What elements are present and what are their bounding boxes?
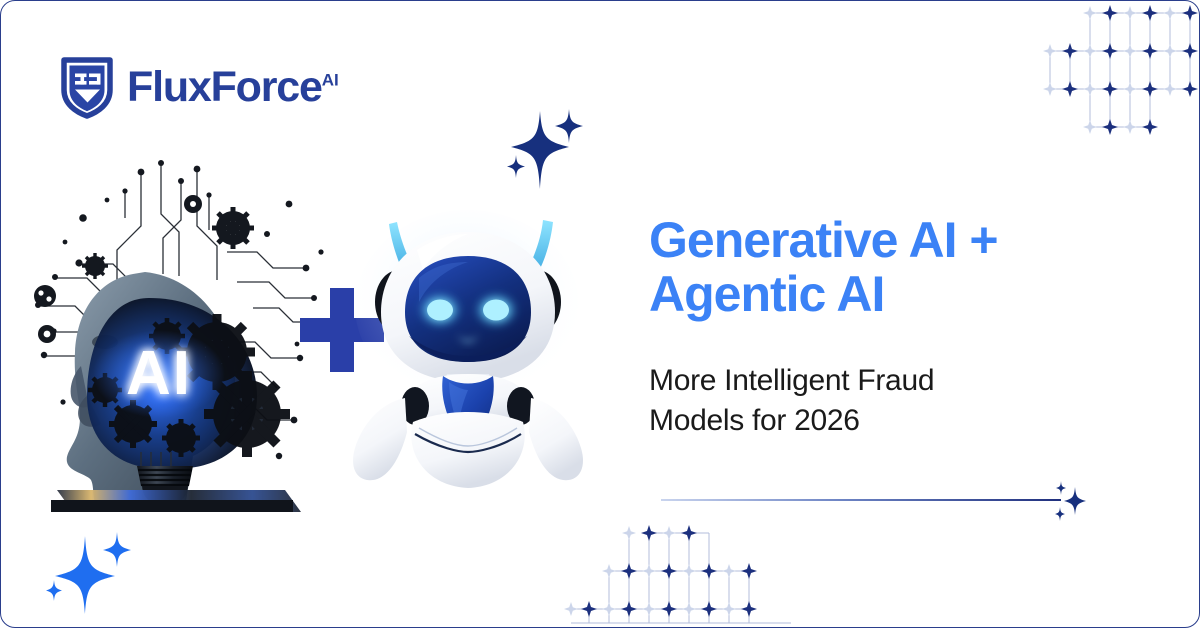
brand-logo[interactable]: FluxForceAI	[61, 56, 339, 118]
ai-head-lightbulb-illustration: AI	[21, 156, 336, 511]
shield-logo-icon	[61, 56, 113, 118]
subheadline-line-2: Models for 2026	[649, 401, 1069, 441]
sparkle-cluster-bottomleft	[43, 522, 168, 617]
subheadline: More Intelligent Fraud Models for 2026	[649, 361, 1069, 441]
star-grid-topright	[1035, 0, 1200, 166]
star-grid-bottom	[566, 511, 796, 628]
divider-sparkle-cluster	[1041, 479, 1097, 523]
logo-wordmark-text: FluxForce	[127, 63, 322, 111]
headline-line-2: Agentic AI	[649, 267, 1079, 321]
ai-bulb-label: AI	[126, 339, 192, 408]
horizontal-divider	[661, 499, 1061, 501]
headline-line-1: Generative AI +	[649, 213, 1079, 267]
promo-banner: FluxForceAI	[0, 0, 1200, 628]
subheadline-line-1: More Intelligent Fraud	[649, 361, 1069, 401]
headline: Generative AI + Agentic AI	[649, 213, 1079, 321]
sparkle-cluster-top	[493, 97, 598, 207]
robot-mascot-illustration	[339, 216, 599, 506]
logo-superscript: AI	[322, 70, 339, 89]
logo-wordmark: FluxForceAI	[127, 66, 339, 109]
